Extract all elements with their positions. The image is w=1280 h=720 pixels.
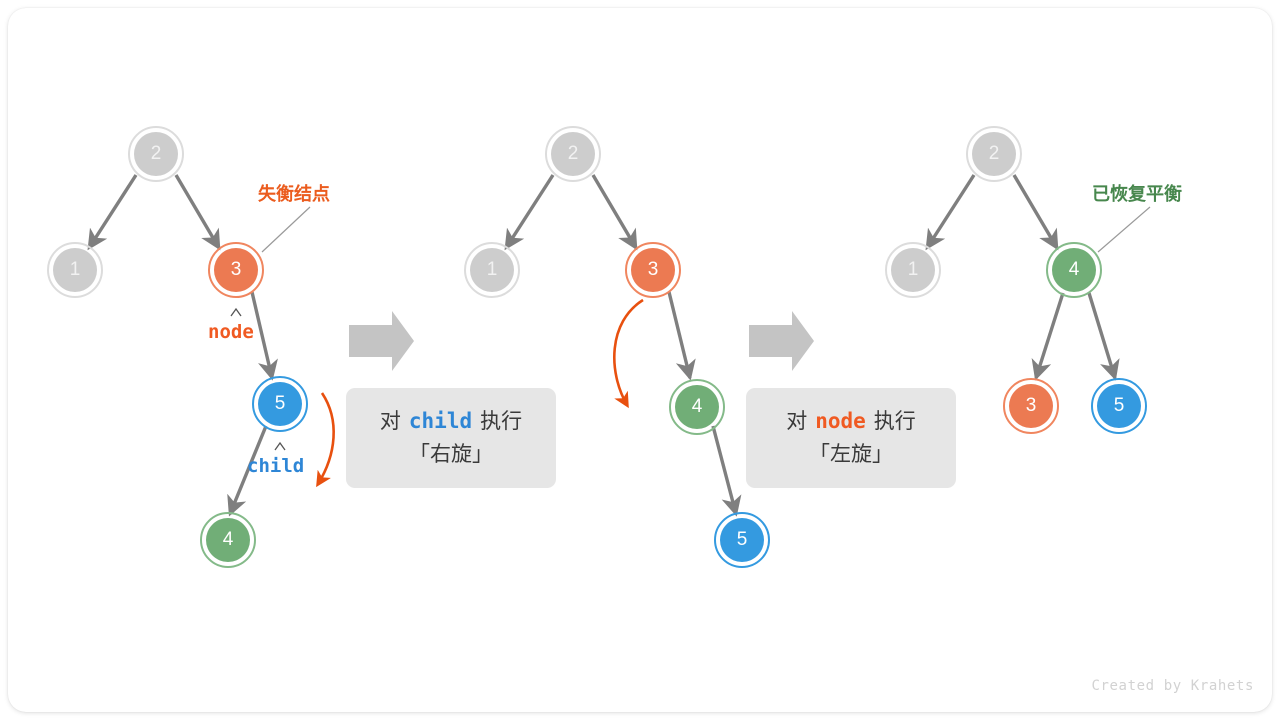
node-circle: 5: [720, 518, 764, 562]
caption-suffix: 执行: [874, 406, 916, 439]
tree-node[interactable]: 4: [198, 510, 258, 570]
step-3-leader-line: [1098, 207, 1150, 252]
node-circle: 4: [206, 518, 250, 562]
caption-right-rotate: 对 child 执行 「右旋」: [346, 388, 556, 488]
node-value: 2: [568, 144, 579, 163]
node-value: 3: [1026, 396, 1037, 415]
node-circle: 3: [1009, 384, 1053, 428]
tree-node[interactable]: 5: [712, 510, 772, 570]
node-circle: 3: [214, 248, 258, 292]
node-value: 1: [70, 260, 81, 279]
node-variable-label: node: [208, 321, 254, 343]
node-circle: 5: [258, 382, 302, 426]
tree-node[interactable]: 2: [964, 124, 1024, 184]
left-rotate-arrow: [614, 300, 643, 405]
node-value: 1: [487, 260, 498, 279]
node-value: 5: [1114, 396, 1125, 415]
node-value: 2: [151, 144, 162, 163]
caption-line-2: 「右旋」: [409, 439, 493, 472]
tree-node[interactable]: 2: [543, 124, 603, 184]
node-value: 5: [737, 530, 748, 549]
tree-node[interactable]: 5: [1089, 376, 1149, 436]
caption-prefix: 对: [380, 406, 401, 439]
node-circle: 1: [53, 248, 97, 292]
node-circle: 2: [134, 132, 178, 176]
node-value: 3: [648, 260, 659, 279]
node-circle: 1: [891, 248, 935, 292]
step-arrow-1: [349, 311, 414, 371]
step-1-leader-line: [262, 207, 310, 252]
node-value: 4: [692, 397, 703, 416]
child-caret-icon: [275, 443, 285, 450]
balanced-annotation: 已恢复平衡: [1092, 180, 1182, 206]
caption-line-1: 对 child 执行: [380, 405, 522, 439]
caption-left-rotate: 对 node 执行 「左旋」: [746, 388, 956, 488]
tree-node[interactable]: 2: [126, 124, 186, 184]
diagram-edges-layer: [0, 0, 1280, 720]
caption-prefix: 对: [786, 406, 807, 439]
node-circle: 4: [675, 385, 719, 429]
node-value: 3: [231, 260, 242, 279]
node-circle: 5: [1097, 384, 1141, 428]
caption-line-1: 对 node 执行: [786, 405, 916, 439]
diagram-canvas: 2 1 3 5 4 失衡结点 node: [0, 0, 1280, 720]
tree-node[interactable]: 1: [45, 240, 105, 300]
caption-suffix: 执行: [480, 406, 522, 439]
node-circle: 1: [470, 248, 514, 292]
step-1-edges: [89, 175, 272, 514]
child-variable-label: child: [247, 455, 304, 477]
node-caret-icon: [231, 309, 241, 316]
node-value: 5: [275, 394, 286, 413]
tree-node-child[interactable]: 5: [250, 374, 310, 434]
node-value: 2: [989, 144, 1000, 163]
caption-variable: node: [807, 405, 874, 438]
node-value: 4: [1069, 260, 1080, 279]
node-circle: 2: [972, 132, 1016, 176]
caption-variable: child: [401, 405, 480, 438]
tree-node-unbalanced[interactable]: 3: [206, 240, 266, 300]
unbalanced-node-annotation: 失衡结点: [258, 180, 330, 206]
caption-operation: 「左旋」: [809, 439, 893, 472]
tree-node[interactable]: 3: [1001, 376, 1061, 436]
tree-node[interactable]: 1: [462, 240, 522, 300]
node-value: 1: [908, 260, 919, 279]
watermark-credit: Created by Krahets: [1091, 678, 1254, 694]
tree-node-unbalanced[interactable]: 3: [623, 240, 683, 300]
step-arrow-2: [749, 311, 814, 371]
node-circle: 3: [631, 248, 675, 292]
tree-node[interactable]: 1: [883, 240, 943, 300]
node-circle: 4: [1052, 248, 1096, 292]
tree-node[interactable]: 4: [667, 377, 727, 437]
caption-operation: 「右旋」: [409, 439, 493, 472]
caption-line-2: 「左旋」: [809, 439, 893, 472]
node-value: 4: [223, 530, 234, 549]
node-circle: 2: [551, 132, 595, 176]
right-rotate-arrow: [318, 393, 334, 484]
tree-node-balanced[interactable]: 4: [1044, 240, 1104, 300]
